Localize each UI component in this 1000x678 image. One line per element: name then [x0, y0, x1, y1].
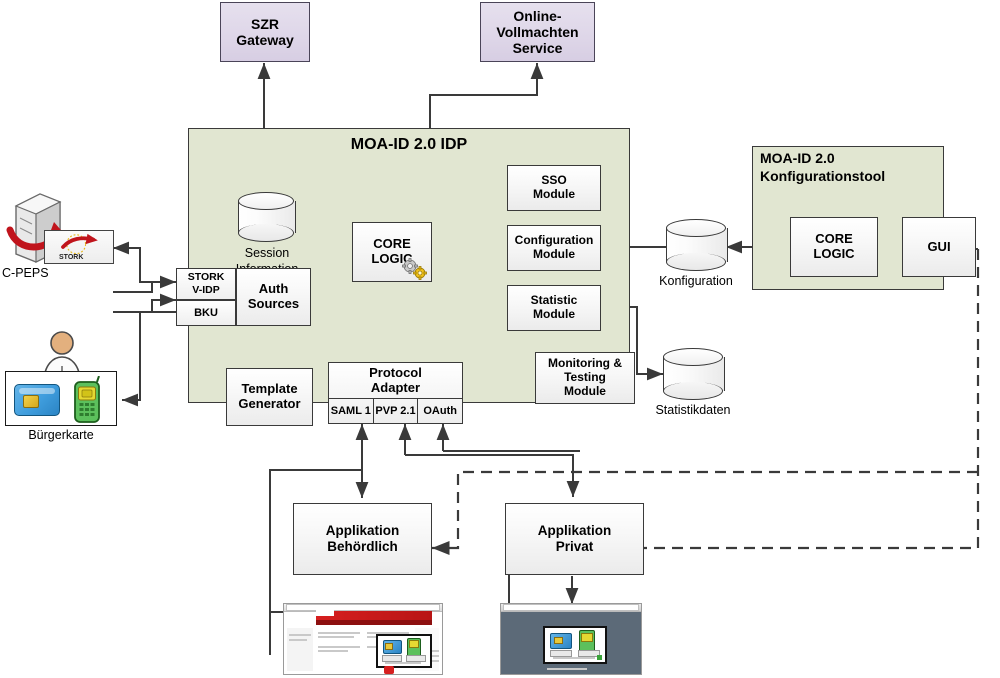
module-core-logic[interactable]: CORE LOGIC — [352, 222, 432, 282]
module-sso[interactable]: SSO Module — [507, 165, 601, 211]
szr-line1: SZR — [236, 16, 294, 32]
core-logic-line1: CORE — [371, 237, 412, 252]
template-generator-line1: Template — [238, 382, 300, 397]
configuration-line2: Module — [515, 248, 594, 262]
stork-badge-text: STORK — [59, 254, 83, 261]
buergerkarte-box[interactable] — [5, 371, 117, 426]
statistic-line1: Statistic — [531, 294, 578, 308]
module-konfigtool-gui[interactable]: GUI — [902, 217, 976, 277]
auth-sources-line2: Sources — [248, 297, 299, 312]
statistic-line2: Module — [531, 308, 578, 322]
protocol-saml1[interactable]: SAML 1 — [329, 399, 374, 423]
datastore-konfiguration — [666, 219, 726, 271]
datastore-session-information — [238, 192, 294, 242]
diagram-canvas: SZR Gateway Online- Vollmachten Service … — [0, 0, 1000, 678]
protocol-adapter-line2: Adapter — [369, 381, 422, 396]
konfigtool-title-line2: Konfigurationstool — [760, 168, 940, 186]
konfigtool-title: MOA-ID 2.0 Konfigurationstool — [760, 150, 940, 185]
protocol-adapter-heading: Protocol Adapter — [329, 363, 462, 398]
module-konfigtool-core-logic[interactable]: CORE LOGIC — [790, 217, 878, 277]
monitoring-line3: Module — [548, 385, 622, 399]
vollmachten-line2: Vollmachten — [496, 24, 578, 40]
external-service-szr-gateway[interactable]: SZR Gateway — [220, 2, 310, 62]
c-peps-label: C-PEPS — [2, 266, 82, 280]
external-service-online-vollmachten[interactable]: Online- Vollmachten Service — [480, 2, 595, 62]
gears-icon — [400, 256, 428, 280]
auth-stack: STORK V-IDP BKU — [176, 268, 236, 326]
browser-screenshot-privat — [500, 603, 642, 675]
application-privat[interactable]: Applikation Privat — [505, 503, 644, 575]
c-peps-stork-badge: STORK — [44, 230, 114, 264]
module-monitoring-testing[interactable]: Monitoring & Testing Module — [535, 352, 635, 404]
sso-line1: SSO — [533, 174, 575, 188]
template-generator-line2: Generator — [238, 397, 300, 412]
stork-vidp-line2: V-IDP — [188, 284, 225, 297]
konfiguration-label: Konfiguration — [640, 274, 752, 288]
vollmachten-line1: Online- — [496, 8, 578, 24]
app-privat-line1: Applikation — [538, 523, 612, 539]
browser-screenshot-behoerdlich — [283, 603, 443, 675]
module-protocol-adapter[interactable]: Protocol Adapter SAML 1 PVP 2.1 OAuth — [328, 362, 463, 424]
monitoring-line2: Testing — [548, 371, 622, 385]
embedded-bku-selection-dialog-privat — [543, 626, 607, 664]
monitoring-line1: Monitoring & — [548, 357, 622, 371]
sso-line2: Module — [533, 188, 575, 202]
auth-source-bku[interactable]: BKU — [176, 300, 236, 326]
protocol-pvp21[interactable]: PVP 2.1 — [374, 399, 419, 423]
vollmachten-line3: Service — [496, 40, 578, 56]
app-privat-line2: Privat — [538, 539, 612, 555]
module-template-generator[interactable]: Template Generator — [226, 368, 313, 426]
protocol-adapter-line1: Protocol — [369, 366, 422, 381]
smartcard-icon — [14, 384, 60, 416]
configuration-line1: Configuration — [515, 234, 594, 248]
buergerkarte-label: Bürgerkarte — [2, 428, 120, 442]
application-behoerdlich[interactable]: Applikation Behördlich — [293, 503, 432, 575]
konfig-core-logic-line1: CORE — [813, 232, 854, 247]
datastore-statistikdaten — [663, 348, 723, 400]
konfig-core-logic-line2: LOGIC — [813, 247, 854, 262]
konfig-gui-label: GUI — [927, 240, 950, 255]
module-auth-sources[interactable]: Auth Sources — [236, 268, 311, 326]
bku-label: BKU — [194, 307, 218, 319]
konfigtool-title-line1: MOA-ID 2.0 — [760, 150, 940, 168]
auth-sources-line1: Auth — [248, 282, 299, 297]
mobile-phone-icon — [70, 376, 104, 424]
session-info-line1: Session — [208, 246, 326, 262]
auth-source-stork-vidp[interactable]: STORK V-IDP — [176, 268, 236, 300]
szr-line2: Gateway — [236, 32, 294, 48]
protocol-adapter-protocols: SAML 1 PVP 2.1 OAuth — [329, 398, 462, 423]
app-behoerdlich-line2: Behördlich — [326, 539, 400, 555]
idp-container-title: MOA-ID 2.0 IDP — [188, 136, 630, 154]
protocol-oauth[interactable]: OAuth — [418, 399, 462, 423]
statistikdaten-label: Statistikdaten — [636, 403, 750, 417]
embedded-bku-selection-dialog — [376, 634, 432, 668]
app-behoerdlich-line1: Applikation — [326, 523, 400, 539]
stork-vidp-line1: STORK — [188, 271, 225, 284]
module-configuration[interactable]: Configuration Module — [507, 225, 601, 271]
module-statistic[interactable]: Statistic Module — [507, 285, 601, 331]
